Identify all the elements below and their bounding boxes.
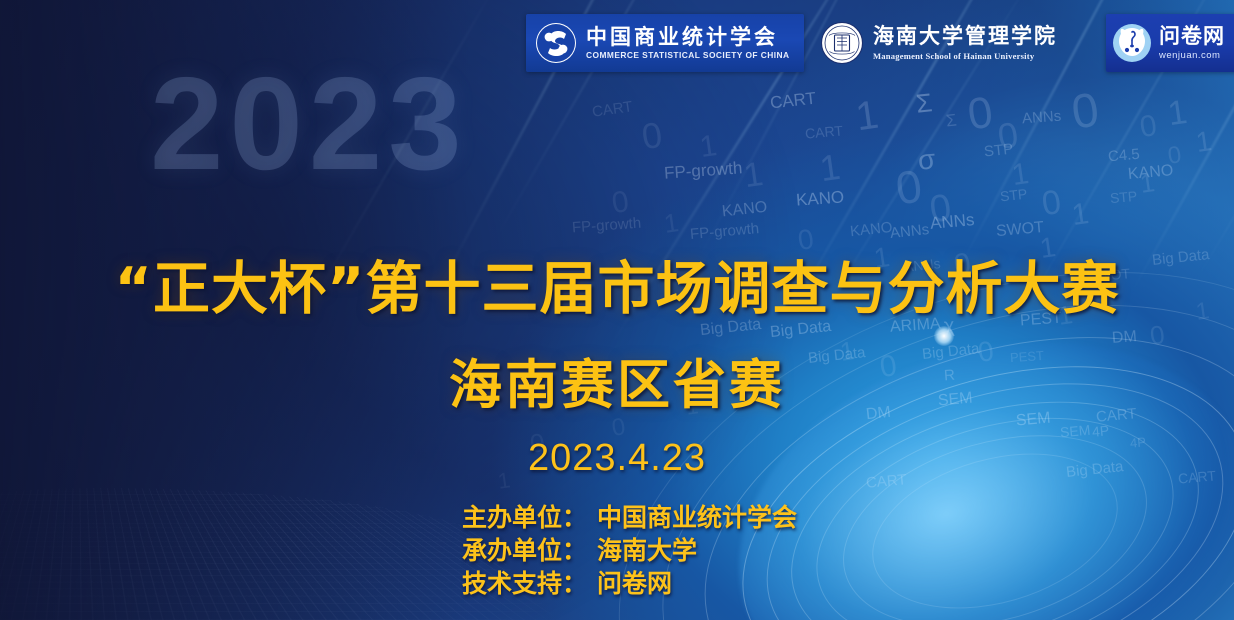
logo-hainan-university[interactable]: 海南大学管理学院 Management School of Hainan Uni…	[814, 14, 1096, 72]
cssc-swirl-icon	[534, 21, 578, 65]
wenjuan-name-en: wenjuan.com	[1159, 50, 1225, 61]
credit-label: 技术支持：	[462, 570, 587, 598]
credit-value: 问卷网	[597, 570, 672, 598]
wenjuan-name-zh: 问卷网	[1159, 26, 1225, 47]
poster-date: 2023.4.23	[0, 437, 1234, 480]
poster-credits: 主办单位：中国商业统计学会承办单位：海南大学技术支持：问卷网	[462, 504, 797, 598]
credit-value: 海南大学	[597, 537, 697, 565]
credit-value: 中国商业统计学会	[597, 504, 797, 532]
logo-wenjuan[interactable]: 问卷网 wenjuan.com	[1106, 14, 1234, 72]
hainan-name-en: Management School of Hainan University	[873, 51, 1057, 61]
credit-row: 主办单位：中国商业统计学会	[462, 504, 797, 532]
poster-content: “正大杯”第十三届市场调查与分析大赛 海南赛区省赛 2023.4.23 主办单位…	[0, 0, 1234, 620]
wenjuan-mascot-icon	[1112, 23, 1152, 63]
logo-commerce-statistical-society[interactable]: 中国商业统计学会 COMMERCE STATISTICAL SOCIETY OF…	[526, 14, 804, 72]
hainan-university-seal-icon	[820, 21, 864, 65]
sponsor-logo-bar: 中国商业统计学会 COMMERCE STATISTICAL SOCIETY OF…	[526, 14, 1234, 72]
credit-row: 承办单位：海南大学	[462, 537, 797, 565]
credit-label: 主办单位：	[462, 504, 587, 532]
credit-row: 技术支持：问卷网	[462, 570, 797, 598]
competition-poster: 1010101011001001010110100101010101CARTCA…	[0, 0, 1234, 620]
poster-subtitle: 海南赛区省赛	[0, 343, 1234, 419]
credit-label: 承办单位：	[462, 537, 587, 565]
cssc-name-zh: 中国商业统计学会	[586, 26, 790, 48]
cssc-name-en: COMMERCE STATISTICAL SOCIETY OF CHINA	[586, 50, 790, 60]
hainan-name-zh: 海南大学管理学院	[873, 25, 1057, 47]
poster-title: “正大杯”第十三届市场调查与分析大赛	[0, 243, 1234, 325]
